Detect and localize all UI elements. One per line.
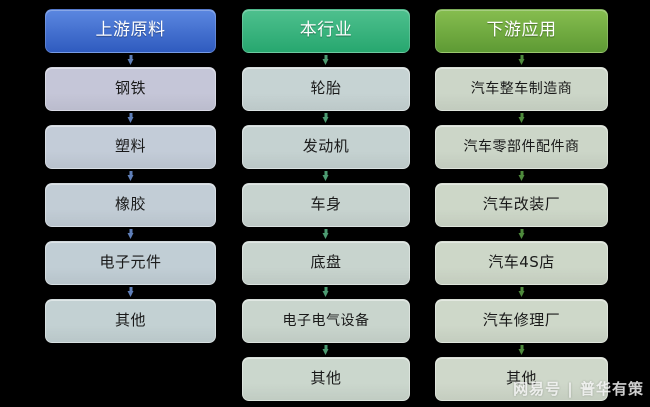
node-industry-2[interactable]: 车身 [242,183,410,227]
flow-connector [435,285,608,299]
column-downstream: 下游应用汽车整车制造商汽车零部件配件商汽车改装厂汽车4S店汽车修理厂其他 [435,0,608,401]
flow-connector [45,285,216,299]
node-downstream-1[interactable]: 汽车零部件配件商 [435,125,608,169]
flow-connector [45,53,216,67]
arrow-down-icon [518,55,525,65]
arrow-down-icon [518,345,525,355]
flow-connector [242,169,410,183]
column-header-upstream[interactable]: 上游原料 [45,9,216,53]
arrow-down-icon [323,287,330,297]
arrow-down-icon [518,171,525,181]
flow-connector [435,169,608,183]
arrow-down-icon [127,171,134,181]
flow-connector [242,343,410,357]
node-downstream-0[interactable]: 汽车整车制造商 [435,67,608,111]
node-downstream-4[interactable]: 汽车修理厂 [435,299,608,343]
column-header-downstream[interactable]: 下游应用 [435,9,608,53]
flow-connector [435,53,608,67]
node-downstream-5[interactable]: 其他 [435,357,608,401]
arrow-down-icon [127,287,134,297]
flow-connector [435,343,608,357]
node-upstream-1[interactable]: 塑料 [45,125,216,169]
flow-connector [242,53,410,67]
flow-connector [45,227,216,241]
flow-connector [435,227,608,241]
node-industry-1[interactable]: 发动机 [242,125,410,169]
arrow-down-icon [518,113,525,123]
node-upstream-3[interactable]: 电子元件 [45,241,216,285]
arrow-down-icon [127,113,134,123]
flow-connector [45,169,216,183]
column-upstream: 上游原料钢铁塑料橡胶电子元件其他 [45,0,216,343]
arrow-down-icon [323,345,330,355]
flow-connector [242,227,410,241]
column-header-industry[interactable]: 本行业 [242,9,410,53]
arrow-down-icon [323,113,330,123]
node-industry-5[interactable]: 其他 [242,357,410,401]
node-industry-4[interactable]: 电子电气设备 [242,299,410,343]
industry-chain-diagram: 上游原料钢铁塑料橡胶电子元件其他本行业轮胎发动机车身底盘电子电气设备其他下游应用… [0,0,650,407]
node-upstream-4[interactable]: 其他 [45,299,216,343]
node-upstream-2[interactable]: 橡胶 [45,183,216,227]
arrow-down-icon [127,55,134,65]
flow-connector [45,111,216,125]
column-industry: 本行业轮胎发动机车身底盘电子电气设备其他 [242,0,410,401]
arrow-down-icon [323,229,330,239]
flow-connector [242,111,410,125]
node-downstream-3[interactable]: 汽车4S店 [435,241,608,285]
node-industry-0[interactable]: 轮胎 [242,67,410,111]
arrow-down-icon [127,229,134,239]
arrow-down-icon [323,171,330,181]
node-upstream-0[interactable]: 钢铁 [45,67,216,111]
arrow-down-icon [518,229,525,239]
node-industry-3[interactable]: 底盘 [242,241,410,285]
node-downstream-2[interactable]: 汽车改装厂 [435,183,608,227]
arrow-down-icon [323,55,330,65]
flow-connector [242,285,410,299]
arrow-down-icon [518,287,525,297]
flow-connector [435,111,608,125]
